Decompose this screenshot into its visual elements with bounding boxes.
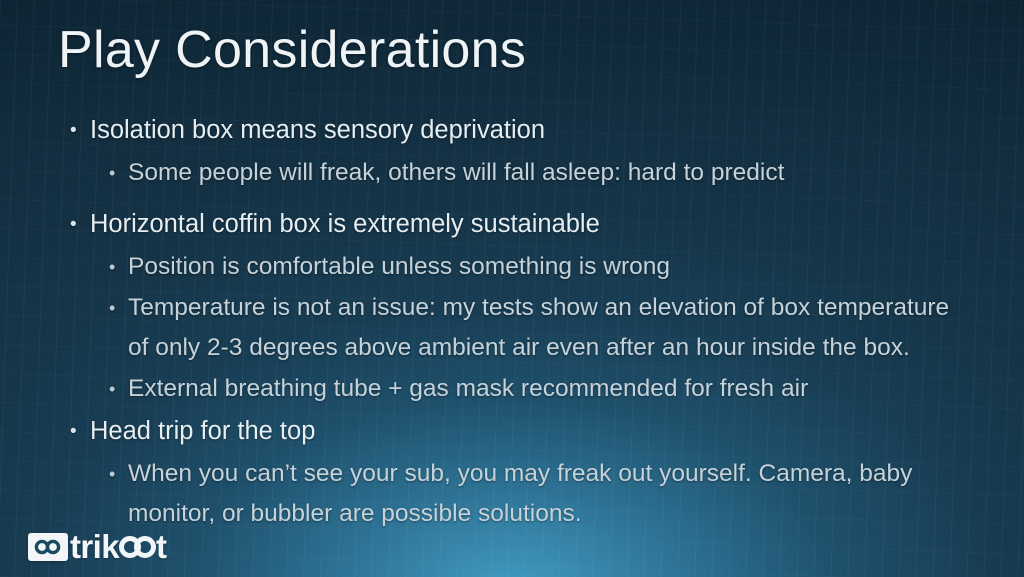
bullet-point-icon: • (70, 110, 90, 140)
list-spacer (62, 194, 962, 202)
bullet-item-level1: • Isolation box means sensory deprivatio… (70, 110, 962, 151)
bullet-text: When you can’t see your sub, you may fre… (128, 454, 962, 534)
bullet-item-level1: • Horizontal coffin box is extremely sus… (70, 204, 962, 245)
bullet-point-icon: • (109, 288, 128, 317)
brand-logo: trik t (28, 530, 166, 563)
bullet-text: Horizontal coffin box is extremely susta… (90, 204, 962, 245)
bullet-item-level1: • Head trip for the top (70, 411, 962, 452)
bullet-point-icon: • (109, 247, 128, 276)
bullet-point-icon: • (109, 454, 128, 483)
bullet-text: Isolation box means sensory deprivation (90, 110, 962, 151)
bullet-text: Some people will freak, others will fall… (128, 153, 962, 193)
bullet-item-level2: • When you can’t see your sub, you may f… (109, 454, 962, 534)
double-circle-icon (28, 533, 68, 561)
slide-title: Play Considerations (58, 23, 526, 78)
bullet-item-level2: • External breathing tube + gas mask rec… (109, 369, 962, 409)
bullet-point-icon: • (70, 411, 90, 441)
wordmark-double-o-icon (119, 536, 156, 558)
bullet-item-level2: • Some people will freak, others will fa… (109, 153, 962, 193)
bullet-text: Temperature is not an issue: my tests sh… (128, 288, 962, 368)
bullet-text: Position is comfortable unless something… (128, 247, 962, 287)
bullet-text: External breathing tube + gas mask recom… (128, 369, 962, 409)
brand-wordmark: trik t (70, 530, 166, 563)
slide-content: Play Considerations • Isolation box mean… (0, 0, 1024, 577)
presentation-slide: Play Considerations • Isolation box mean… (0, 0, 1024, 577)
bullet-list: • Isolation box means sensory deprivatio… (62, 108, 962, 535)
bullet-text: Head trip for the top (90, 411, 962, 452)
bullet-item-level2: • Temperature is not an issue: my tests … (109, 288, 962, 368)
bullet-point-icon: • (70, 204, 90, 234)
wordmark-prefix: trik (70, 530, 119, 563)
wordmark-o-right (134, 536, 156, 558)
bullet-point-icon: • (109, 369, 128, 398)
bullet-point-icon: • (109, 153, 128, 182)
bullet-item-level2: • Position is comfortable unless somethi… (109, 247, 962, 287)
wordmark-suffix: t (156, 530, 166, 563)
